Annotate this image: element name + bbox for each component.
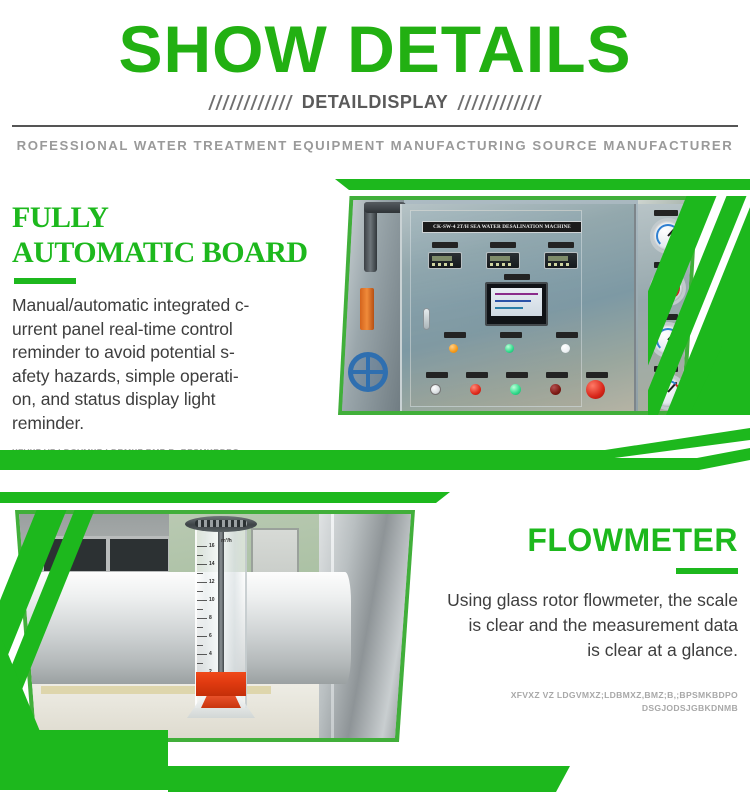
green-top-bar-decoration	[335, 179, 750, 190]
section1-text-block: FULLY AUTOMATIC BOARD Manual/automatic i…	[12, 200, 312, 472]
section2-micro-line2: DSGJODSJGBKDNMB	[430, 702, 738, 715]
meter-caption	[490, 242, 516, 248]
photo1-image: CK-SW-4 2T/H SEA WATER DESALINATION MACH…	[342, 200, 694, 411]
scale-tick	[197, 654, 207, 655]
scale-tick	[197, 600, 207, 601]
scale-tick	[197, 582, 207, 583]
section1-body-line-2: urrent panel real-time control	[12, 318, 312, 342]
section1-body-line-6: reminder.	[12, 412, 312, 436]
section1-heading-line2: AUTOMATIC BOARD	[12, 235, 312, 270]
scale-label: 6	[209, 633, 212, 639]
indicator-caption	[500, 332, 522, 338]
button-caption	[426, 372, 448, 378]
scale-tick	[197, 627, 203, 628]
hmi-caption	[504, 274, 530, 280]
scale-tick	[197, 663, 203, 664]
button-caption	[586, 372, 608, 378]
indicator-caption	[444, 332, 466, 338]
indicator-light-green	[505, 344, 514, 353]
page-title: SHOW DETAILS	[0, 16, 750, 82]
scale-label: 8	[209, 615, 212, 621]
section-flowmeter: m³/h 16 14 12 10 8	[0, 492, 750, 804]
header-tagline: ROFESSIONAL WATER TREATMENT EQUIPMENT MA…	[0, 138, 750, 153]
control-panel-photo: CK-SW-4 2T/H SEA WATER DESALINATION MACH…	[338, 196, 698, 415]
hmi-screen-content	[491, 288, 542, 316]
flowmeter-float	[196, 672, 246, 696]
header-divider	[12, 125, 738, 127]
section2-text-block: FLOWMETER Using glass rotor flowmeter, t…	[430, 522, 738, 715]
slashes-right-decoration	[460, 95, 539, 110]
scale-tick	[197, 636, 207, 637]
section1-body-line-4: afety hazards, simple operati-	[12, 365, 312, 389]
cabinet-door-handle[interactable]	[423, 308, 430, 330]
green-top-bar-decoration-2	[0, 492, 450, 503]
scale-tick	[197, 546, 207, 547]
green-chevron-right-decoration	[648, 196, 750, 415]
subtitle-row: DETAILDISPLAY	[0, 92, 750, 113]
scale-label: 16	[209, 543, 215, 549]
scale-tick	[197, 555, 203, 556]
scale-label: 10	[209, 597, 215, 603]
digital-meter	[428, 252, 462, 269]
section2-body-line-1: Using glass rotor flowmeter, the scale	[430, 588, 738, 613]
machine-nameplate: CK-SW-4 2T/H SEA WATER DESALINATION MACH…	[422, 221, 582, 233]
section2-heading-underline	[676, 568, 738, 574]
scale-tick	[197, 573, 203, 574]
valve-handwheel-icon	[348, 352, 388, 392]
dark-red-push-button[interactable]	[550, 384, 561, 395]
section2-micro-line1: XFVXZ VZ LDGVMXZ;LDBMXZ,BMZ;B,;BPSMKBDPO	[430, 689, 738, 702]
digital-meter	[544, 252, 578, 269]
section1-body-line-3: reminder to avoid potential s-	[12, 341, 312, 365]
control-cabinet: CK-SW-4 2T/H SEA WATER DESALINATION MACH…	[400, 204, 636, 411]
scale-tick	[197, 618, 207, 619]
page-subtitle: DETAILDISPLAY	[302, 92, 449, 113]
flowmeter-unit-label: m³/h	[221, 538, 232, 544]
indicator-light-white	[561, 344, 570, 353]
red-push-button[interactable]	[470, 384, 481, 395]
meter-caption	[548, 242, 574, 248]
section2-heading: FLOWMETER	[430, 522, 738, 558]
green-chevron-left-decoration	[0, 510, 100, 742]
indicator-caption	[556, 332, 578, 338]
button-caption	[506, 372, 528, 378]
section2-body-line-2: is clear and the measurement data	[430, 613, 738, 638]
section2-body-line-3: is clear at a glance.	[430, 638, 738, 663]
section1-body-line-5: on, and status display light	[12, 388, 312, 412]
scale-tick	[197, 591, 203, 592]
emergency-stop-button[interactable]	[586, 380, 605, 399]
detail-page: SHOW DETAILS DETAILDISPLAY ROFESSIONAL W…	[0, 0, 750, 804]
scale-tick	[197, 564, 207, 565]
section1-body-line-1: Manual/automatic integrated c-	[12, 294, 312, 318]
slashes-left-decoration	[211, 95, 290, 110]
digital-meter	[486, 252, 520, 269]
section1-heading-line1: FULLY	[12, 200, 312, 235]
scale-label: 14	[209, 561, 215, 567]
page-header: SHOW DETAILS DETAILDISPLAY ROFESSIONAL W…	[0, 0, 750, 172]
button-caption	[546, 372, 568, 378]
section-fully-automatic-board: FULLY AUTOMATIC BOARD Manual/automatic i…	[0, 172, 750, 492]
indicator-light-orange	[449, 344, 458, 353]
scale-label: 12	[209, 579, 215, 585]
scale-label: 4	[209, 651, 212, 657]
scale-tick	[197, 609, 203, 610]
scale-tick	[197, 645, 203, 646]
section1-heading-underline	[14, 278, 76, 284]
meter-caption	[432, 242, 458, 248]
button-caption	[466, 372, 488, 378]
green-push-button[interactable]	[510, 384, 521, 395]
flowmeter-top-fitting	[185, 516, 257, 532]
selector-switch-button[interactable]	[430, 384, 441, 395]
flowmeter-scale: 16 14 12 10 8 6	[195, 546, 247, 678]
hmi-touchscreen[interactable]	[485, 282, 548, 326]
orange-component	[360, 288, 374, 330]
